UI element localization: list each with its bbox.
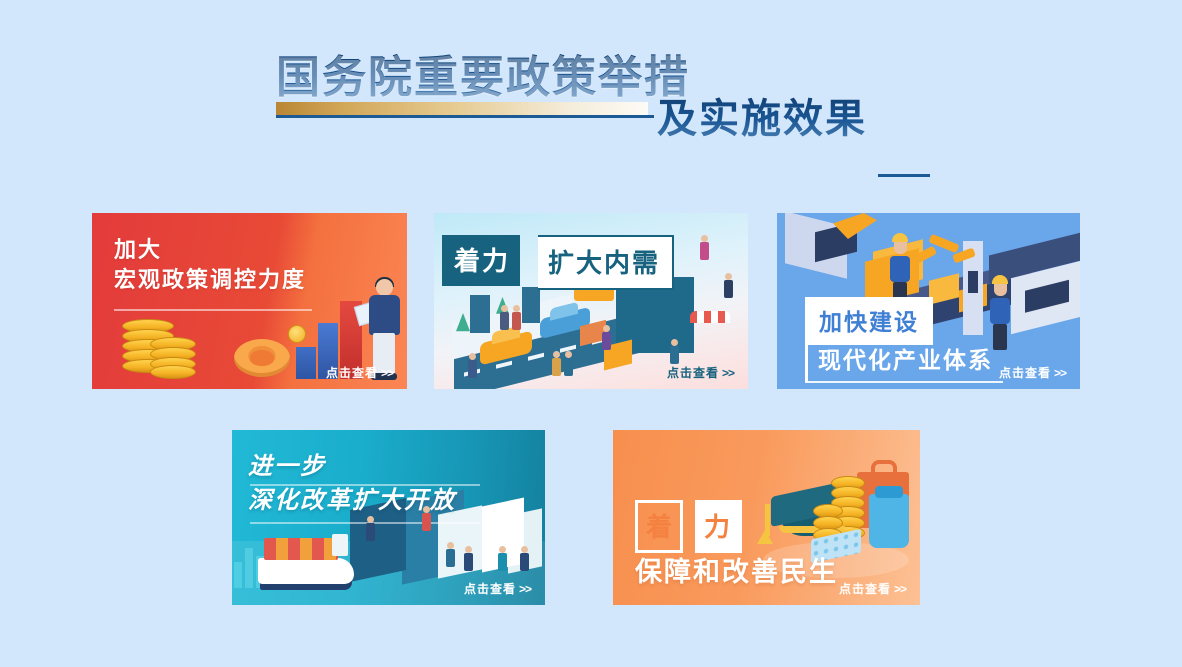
- card-cta-label: 点击查看: [999, 366, 1051, 380]
- card-title-underline-1: [250, 484, 480, 486]
- card-title-line2: 宏观政策调控力度: [114, 265, 306, 295]
- page-root: 国务院重要政策举措 及实施效果 加大 宏观政策调控力度: [0, 0, 1182, 667]
- card-cta[interactable]: 点击查看>>: [464, 580, 531, 597]
- card-deepen-reform-opening-up[interactable]: 进一步 深化改革扩大开放 点击查看>>: [232, 430, 545, 605]
- person-figure: [564, 351, 572, 376]
- title-blue-rule: [276, 115, 654, 118]
- chevron-right-icon: >>: [1054, 366, 1066, 380]
- chevron-right-icon: >>: [722, 366, 734, 380]
- card-title-segment-c: 保障和改善民生: [635, 550, 838, 589]
- person-figure: [422, 506, 430, 531]
- card-title-segment-a: 着力: [442, 235, 520, 286]
- card-cta-label: 点击查看: [464, 582, 516, 596]
- person-figure: [446, 542, 454, 567]
- card-cta-label: 点击查看: [326, 366, 378, 380]
- graduation-tassel-end: [757, 530, 773, 544]
- page-title-line2: 及实施效果: [657, 94, 867, 144]
- card-cta-label: 点击查看: [667, 366, 719, 380]
- cargo-containers: [264, 538, 338, 560]
- bar-chart-bar-1: [296, 347, 316, 379]
- card-title-line1: 加大: [114, 235, 306, 265]
- person-figure: [670, 339, 678, 364]
- person-figure: [512, 305, 520, 330]
- person-figure: [464, 546, 472, 571]
- medicine-bottle-icon: [869, 494, 909, 548]
- card-title-underline: [114, 309, 312, 311]
- card-title: 加大 宏观政策调控力度: [114, 235, 306, 295]
- page-header: 国务院重要政策举措 及实施效果: [0, 52, 1182, 152]
- card-title-segment-b: 力: [695, 500, 742, 553]
- coin-stack-icon-2: [150, 337, 196, 379]
- chevron-right-icon: >>: [381, 366, 393, 380]
- card-cta[interactable]: 点击查看>>: [839, 580, 906, 597]
- graduation-tassel: [765, 504, 770, 536]
- person-figure: [602, 325, 610, 350]
- person-figure: [700, 235, 708, 260]
- card-cta[interactable]: 点击查看>>: [667, 364, 734, 381]
- cargo-ship-hull: [258, 558, 354, 584]
- medicine-bottle-cap: [875, 486, 903, 498]
- card-title-underline-2: [250, 522, 480, 524]
- person-figure: [468, 353, 476, 378]
- coin-icon: [288, 325, 306, 343]
- shop-awning-2: [690, 311, 730, 323]
- card-title-segment-b: 现代化产业体系: [805, 337, 1003, 383]
- ship-tower: [332, 534, 348, 556]
- title-gold-underline: [276, 102, 648, 115]
- card-expand-domestic-demand[interactable]: 着力 扩大内需 点击查看>>: [434, 213, 748, 389]
- person-figure: [366, 516, 374, 541]
- person-figure: [520, 546, 528, 571]
- kiosk-icon-1: [470, 295, 490, 333]
- chevron-right-icon: >>: [519, 582, 531, 596]
- factory-worker-2: [989, 275, 1011, 341]
- kiosk-icon-2: [522, 287, 540, 323]
- card-macro-policy[interactable]: 加大 宏观政策调控力度 点击查看>>: [92, 213, 407, 389]
- page-title-line1: 国务院重要政策举措: [276, 52, 690, 104]
- chevron-right-icon: >>: [894, 582, 906, 596]
- card-cta-label: 点击查看: [839, 582, 891, 596]
- card-title-segment-b: 扩大内需: [538, 235, 674, 290]
- person-figure: [500, 305, 508, 330]
- coin-ring-icon: [234, 339, 290, 377]
- title-trailing-dash: [878, 174, 930, 177]
- card-cta[interactable]: 点击查看>>: [999, 364, 1066, 381]
- robot-arm-icon-2: [903, 235, 975, 279]
- person-figure: [724, 273, 732, 298]
- card-safeguard-improve-livelihood[interactable]: 着 力 保障和改善民生 点击查看>>: [613, 430, 920, 605]
- card-title-line1: 进一步: [248, 450, 456, 484]
- card-title-segment-a: 着: [635, 500, 683, 553]
- person-figure: [498, 546, 506, 571]
- card-cta[interactable]: 点击查看>>: [326, 364, 393, 381]
- person-figure: [552, 351, 560, 376]
- card-modern-industrial-system[interactable]: 加快建设 现代化产业体系 点击查看>>: [777, 213, 1080, 389]
- factory-worker-1: [889, 233, 911, 299]
